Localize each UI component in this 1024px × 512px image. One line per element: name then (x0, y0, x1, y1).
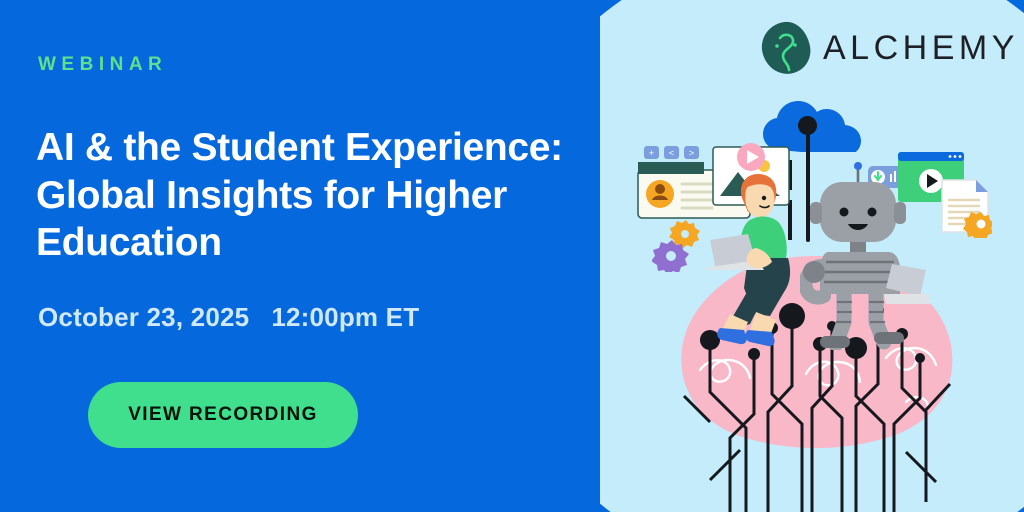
logo-wordmark: ALCHEMY (823, 29, 1019, 68)
event-date: October 23, 2025 (38, 302, 249, 332)
view-recording-button[interactable]: VIEW RECORDING (88, 382, 358, 448)
alchemy-logo[interactable]: ALCHEMY (762, 22, 1019, 74)
gear-cluster (652, 218, 708, 272)
headline-line-3: Education (36, 219, 596, 267)
cloud-node-dot (798, 116, 817, 135)
svg-text:>: > (689, 148, 694, 158)
event-datetime: October 23, 202512:00pm ET (38, 302, 419, 333)
eyebrow-label: WEBINAR (38, 54, 167, 76)
svg-text:+: + (649, 148, 654, 158)
page-title: AI & the Student Experience: Global Insi… (36, 124, 596, 267)
headline-line-1: AI & the Student Experience: (36, 124, 596, 172)
document-icon (940, 178, 992, 238)
webinar-promo-banner: +<> (0, 0, 1024, 512)
svg-text:<: < (669, 148, 674, 158)
robot-with-laptop (800, 160, 930, 350)
headline-line-2: Global Insights for Higher (36, 172, 596, 220)
event-time: 12:00pm ET (271, 302, 419, 332)
alchemy-blob-logo-icon (762, 22, 810, 74)
